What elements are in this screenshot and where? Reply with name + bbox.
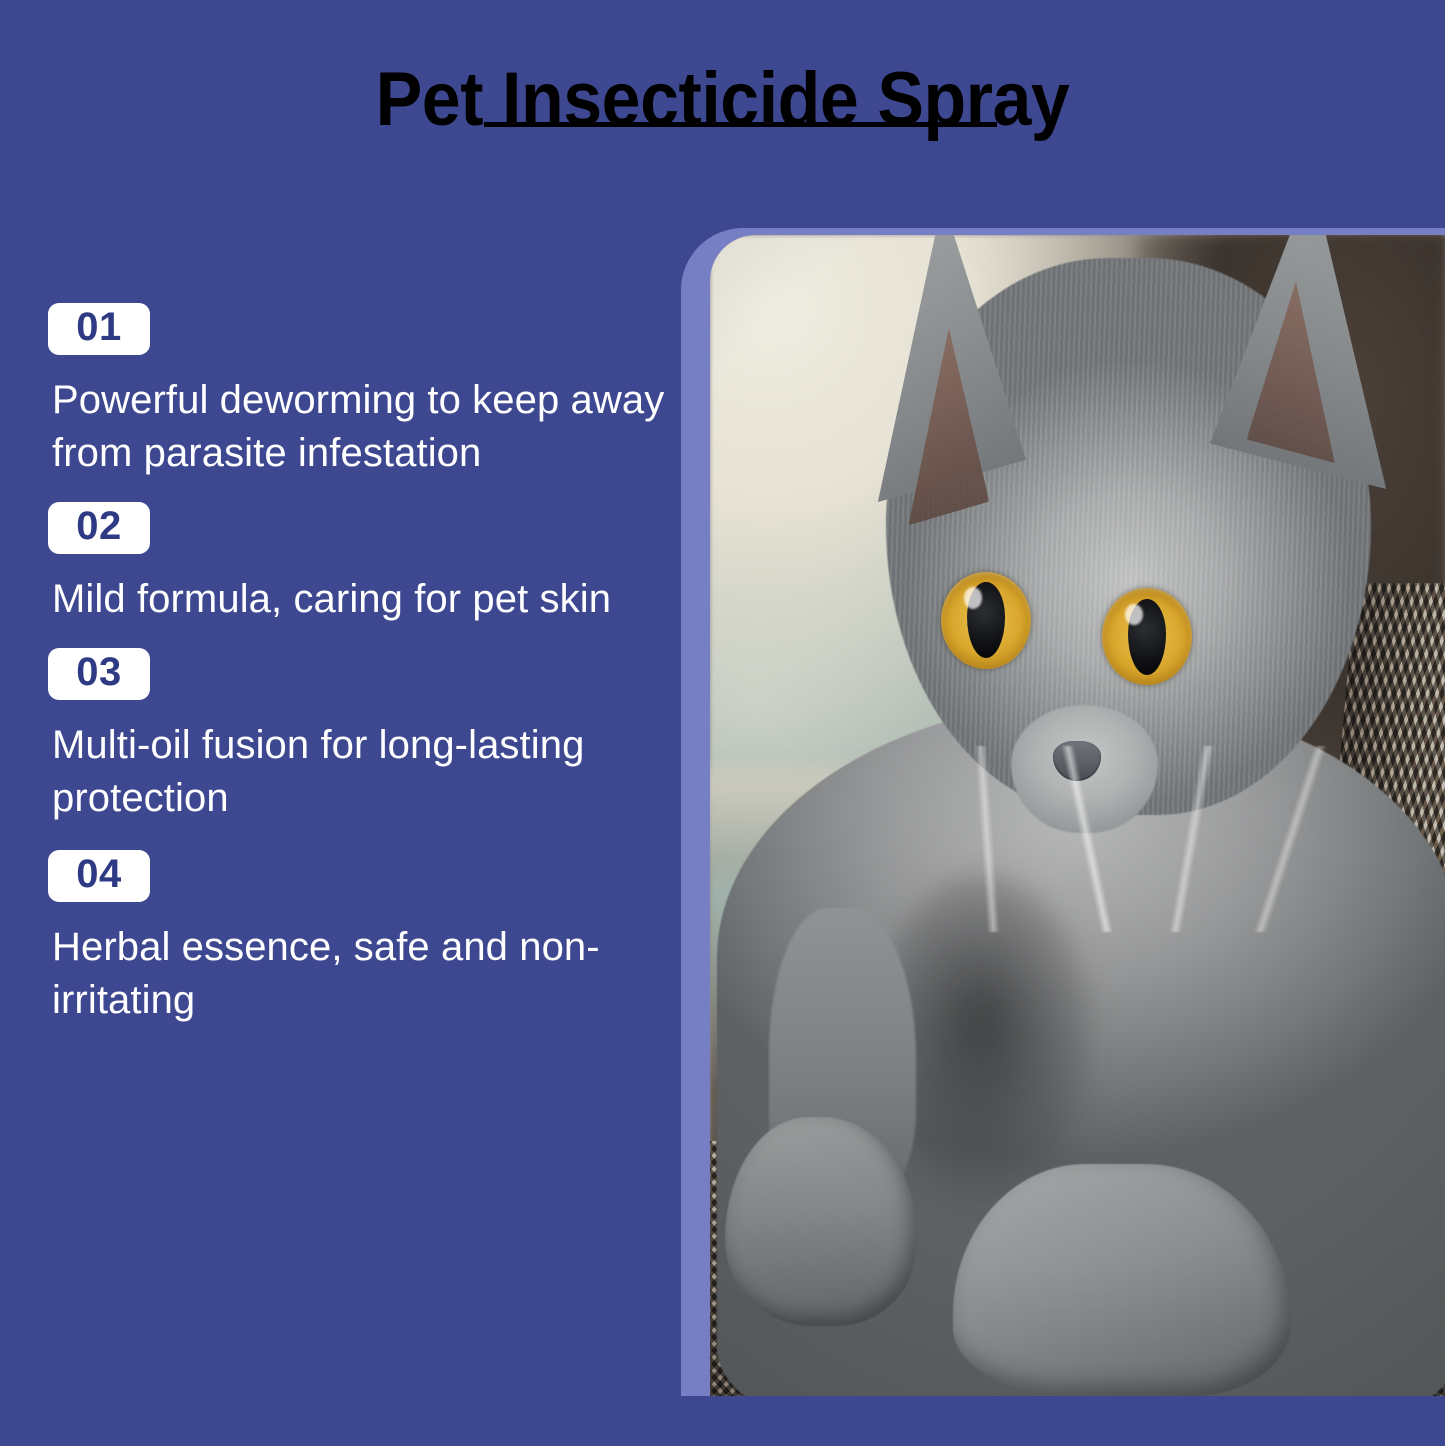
feature-badge-02: 02 [48,502,150,554]
feature-text-01: Powerful deworming to keep away from par… [52,374,673,480]
cat-paw-left [725,1117,916,1326]
feature-badge-number: 02 [63,506,135,547]
cat-figure [710,235,1445,1396]
cat-eye-right [1102,588,1192,686]
feature-item-03: 03 Multi-oil fusion for long-lasting pro… [48,648,673,825]
feature-badge-01: 01 [48,303,150,355]
photo-frame-border [681,228,1445,1396]
feature-badge-number: 03 [63,652,135,693]
feature-badge-04: 04 [48,850,150,902]
feature-list: 01 Powerful deworming to keep away from … [48,303,673,1028]
cat-photo [710,235,1445,1396]
cat-eye-glint-left [964,587,982,608]
feature-text-03: Multi-oil fusion for long-lasting protec… [52,719,673,825]
feature-item-04: 04 Herbal essence, safe and non-irritati… [48,850,673,1027]
feature-item-02: 02 Mild formula, caring for pet skin [48,502,673,626]
feature-badge-number: 04 [63,854,135,895]
feature-text-02: Mild formula, caring for pet skin [52,573,673,626]
feature-badge-03: 03 [48,648,150,700]
cat-eye-left [941,572,1031,670]
feature-text-04: Herbal essence, safe and non-irritating [52,921,673,1027]
photo-clip [710,235,1445,1396]
feature-badge-number: 01 [63,307,135,348]
feature-item-01: 01 Powerful deworming to keep away from … [48,303,673,480]
title-underline-rule [484,122,997,127]
product-feature-poster: Pet Insecticide Spray 01 Powerful deworm… [0,0,1445,1446]
